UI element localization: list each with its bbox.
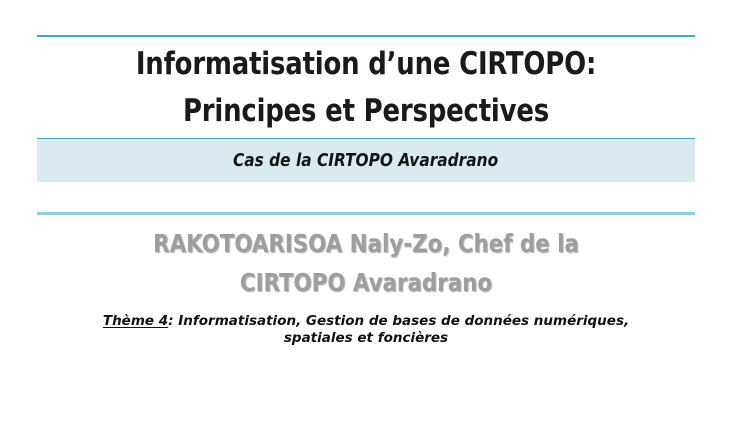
- presentation-title-slide: Informatisation d’une CIRTOPO: Principes…: [0, 0, 737, 442]
- subtitle-text: Cas de la CIRTOPO Avaradrano: [233, 150, 498, 172]
- author-line-2: CIRTOPO Avaradrano: [53, 263, 678, 302]
- subtitle-band: Cas de la CIRTOPO Avaradrano: [37, 139, 695, 182]
- author-block: RAKOTOARISOA Naly-Zo, Chef de la CIRTOPO…: [37, 224, 695, 302]
- theme-block: Thème 4: Informatisation, Gestion de bas…: [37, 313, 695, 347]
- theme-separator: :: [168, 313, 178, 329]
- title-line-1: Informatisation d’une CIRTOPO:: [60, 41, 672, 88]
- slide-title: Informatisation d’une CIRTOPO: Principes…: [37, 41, 695, 135]
- top-accent-rule: [37, 35, 695, 37]
- bottom-accent-rule: [37, 212, 695, 215]
- theme-line-2: spatiales et foncières: [37, 330, 695, 347]
- theme-line-1: Informatisation, Gestion de bases de don…: [178, 313, 629, 329]
- author-line-1: RAKOTOARISOA Naly-Zo, Chef de la: [53, 224, 678, 263]
- theme-label: Thème 4: [103, 313, 168, 329]
- title-line-2: Principes et Perspectives: [60, 88, 672, 135]
